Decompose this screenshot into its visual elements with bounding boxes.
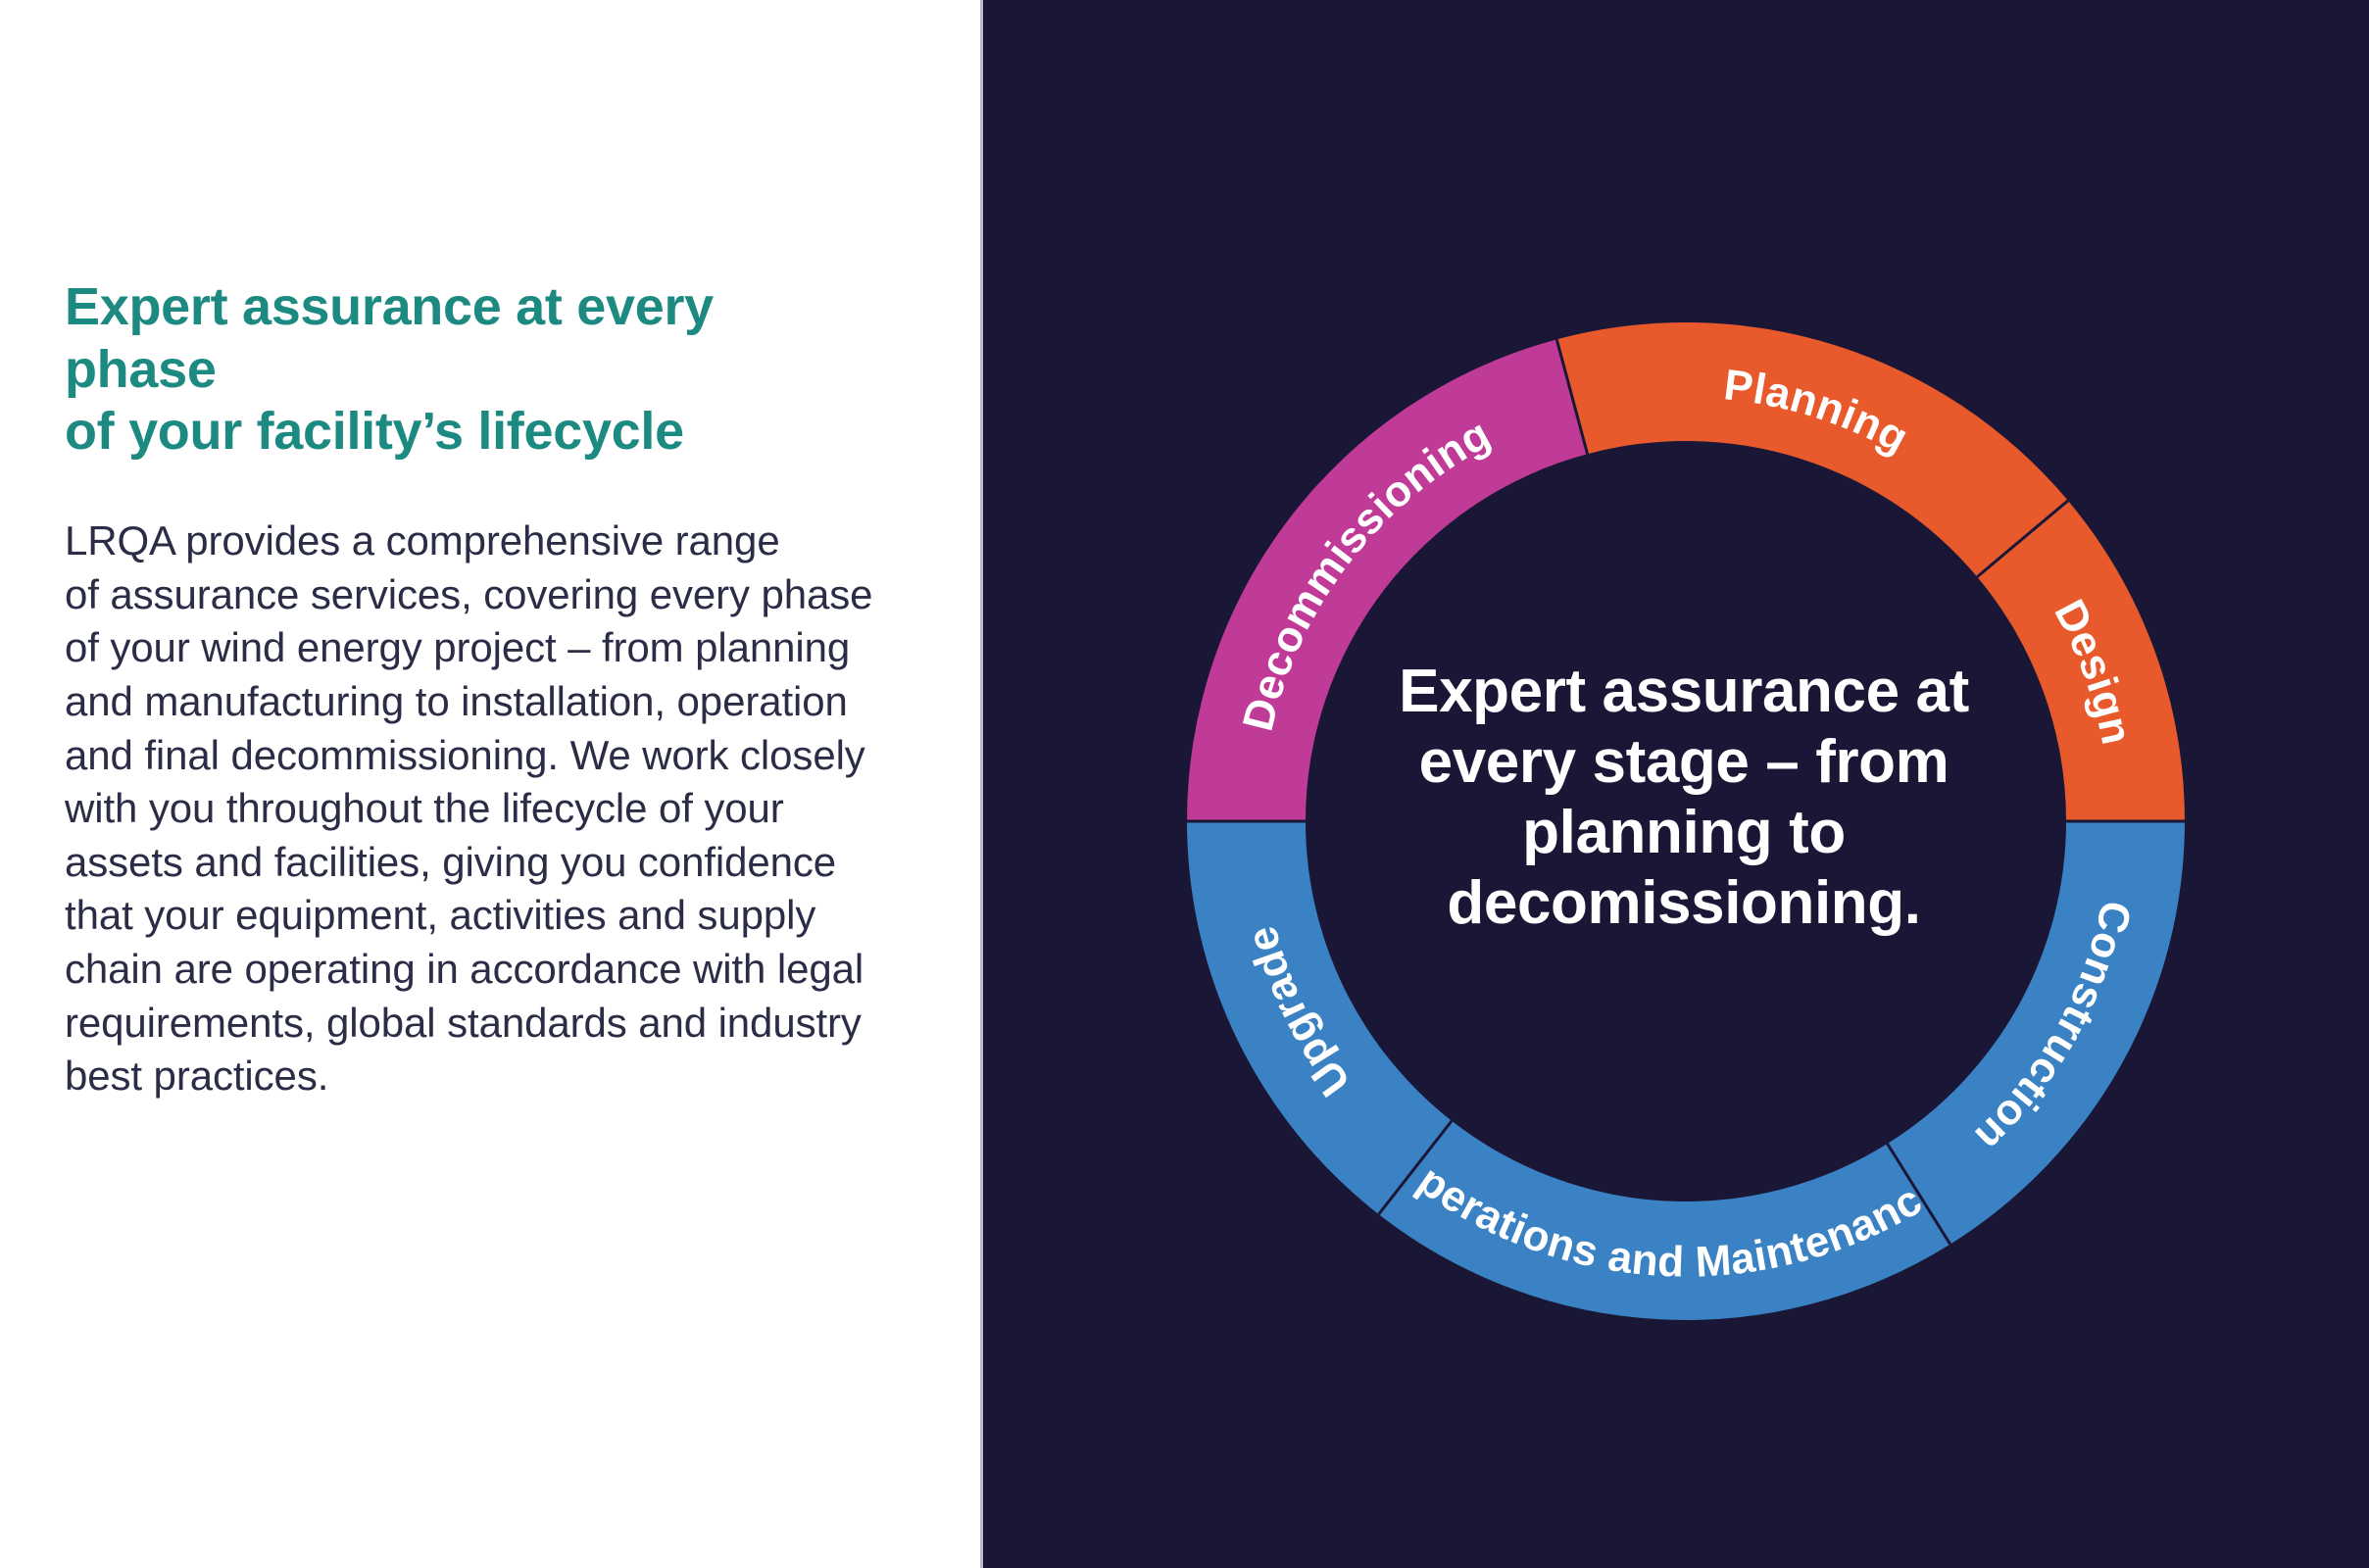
body-line-4: and manufacturing to installation, opera… xyxy=(65,675,878,729)
left-text-panel: Expert assurance at every phase of your … xyxy=(0,0,980,1568)
body-line-6: with you throughout the lifecycle of you… xyxy=(65,782,878,836)
center-line-2: every stage – from xyxy=(1370,727,1998,798)
slice-label-operations-and-maintenance-text: Operations and Maintenance xyxy=(983,0,1930,1287)
center-line-1: Expert assurance at xyxy=(1370,657,1998,727)
slide-root: Expert assurance at every phase of your … xyxy=(0,0,2369,1568)
headline-line-2: of your facility’s lifecycle xyxy=(65,401,810,464)
body-line-11: best practices. xyxy=(65,1050,878,1103)
lifecycle-donut-chart: Planning Design Construction Operations … xyxy=(983,0,2369,1568)
headline-line-1: Expert assurance at every phase xyxy=(65,276,810,401)
slice-label-operations-and-maintenance: Operations and Maintenance xyxy=(983,0,1930,1287)
center-line-3: planning to xyxy=(1370,798,1998,868)
body-line-10: requirements, global standards and indus… xyxy=(65,997,878,1051)
body-line-2: of assurance services, covering every ph… xyxy=(65,568,878,622)
body-line-5: and final decommissioning. We work close… xyxy=(65,729,878,783)
body-line-1: LRQA provides a comprehensive range xyxy=(65,514,878,568)
right-diagram-panel: Planning Design Construction Operations … xyxy=(983,0,2369,1568)
left-content-block: Expert assurance at every phase of your … xyxy=(65,276,878,1103)
body-line-7: assets and facilities, giving you confid… xyxy=(65,836,878,890)
page-title: Expert assurance at every phase of your … xyxy=(65,276,810,464)
body-paragraph: LRQA provides a comprehensive range of a… xyxy=(65,514,878,1103)
body-line-8: that your equipment, activities and supp… xyxy=(65,889,878,943)
donut-slice-planning[interactable] xyxy=(1556,322,2068,577)
center-line-4: decomissioning. xyxy=(1370,868,1998,939)
donut-center-label: Expert assurance at every stage – from p… xyxy=(1370,657,1998,939)
body-line-3: of your wind energy project – from plann… xyxy=(65,621,878,675)
body-line-9: chain are operating in accordance with l… xyxy=(65,943,878,997)
